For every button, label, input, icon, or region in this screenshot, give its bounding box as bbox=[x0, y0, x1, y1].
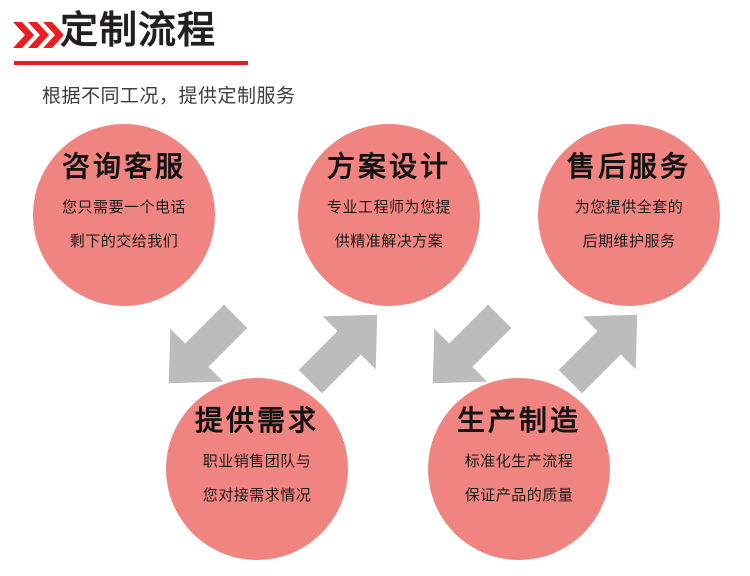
flow-node-desc-line1: 标准化生产流程 bbox=[465, 450, 574, 472]
flow-node-production[interactable]: 生产制造 标准化生产流程 保证产品的质量 bbox=[428, 378, 610, 560]
flow-node-consult[interactable]: 咨询客服 您只需要一个电话 剩下的交给我们 bbox=[33, 124, 215, 306]
title-underline-rule bbox=[14, 61, 248, 65]
customization-process-infographic: 定制流程 根据不同工况，提供定制服务 咨询客服 您只需要一个电话 剩下的交给我们… bbox=[0, 0, 750, 576]
flow-node-title: 咨询客服 bbox=[62, 150, 186, 184]
flow-node-design[interactable]: 方案设计 专业工程师为您提 供精准解决方案 bbox=[298, 124, 480, 306]
arrow-up-right-icon bbox=[288, 294, 398, 404]
flow-node-desc-line1: 为您提供全套的 bbox=[575, 196, 684, 218]
flow-node-desc-line1: 专业工程师为您提 bbox=[327, 196, 451, 218]
flow-node-desc-line2: 剩下的交给我们 bbox=[70, 230, 179, 252]
flow-node-desc-line1: 职业销售团队与 bbox=[203, 450, 312, 472]
flow-node-requirements[interactable]: 提供需求 职业销售团队与 您对接需求情况 bbox=[166, 378, 348, 560]
flow-node-desc-line1: 您只需要一个电话 bbox=[62, 196, 186, 218]
flow-node-aftersales[interactable]: 售后服务 为您提供全套的 后期维护服务 bbox=[538, 124, 720, 306]
flow-node-title: 提供需求 bbox=[195, 404, 319, 438]
page-header: 定制流程 根据不同工况，提供定制服务 bbox=[0, 0, 750, 72]
arrow-down-right-icon bbox=[148, 294, 258, 404]
arrow-up-right-icon bbox=[548, 294, 658, 404]
arrow-down-right-icon bbox=[412, 294, 522, 404]
flow-node-desc-line2: 后期维护服务 bbox=[582, 230, 675, 252]
flow-node-title: 售后服务 bbox=[567, 150, 691, 184]
flow-node-desc-line2: 保证产品的质量 bbox=[465, 484, 574, 506]
flow-node-title: 方案设计 bbox=[327, 150, 451, 184]
page-subtitle: 根据不同工况，提供定制服务 bbox=[42, 84, 296, 110]
flow-node-desc-line2: 供精准解决方案 bbox=[335, 230, 444, 252]
flow-node-title: 生产制造 bbox=[457, 404, 581, 438]
page-title: 定制流程 bbox=[60, 8, 216, 54]
flow-node-desc-line2: 您对接需求情况 bbox=[203, 484, 312, 506]
triple-chevron-right-icon bbox=[13, 20, 63, 50]
